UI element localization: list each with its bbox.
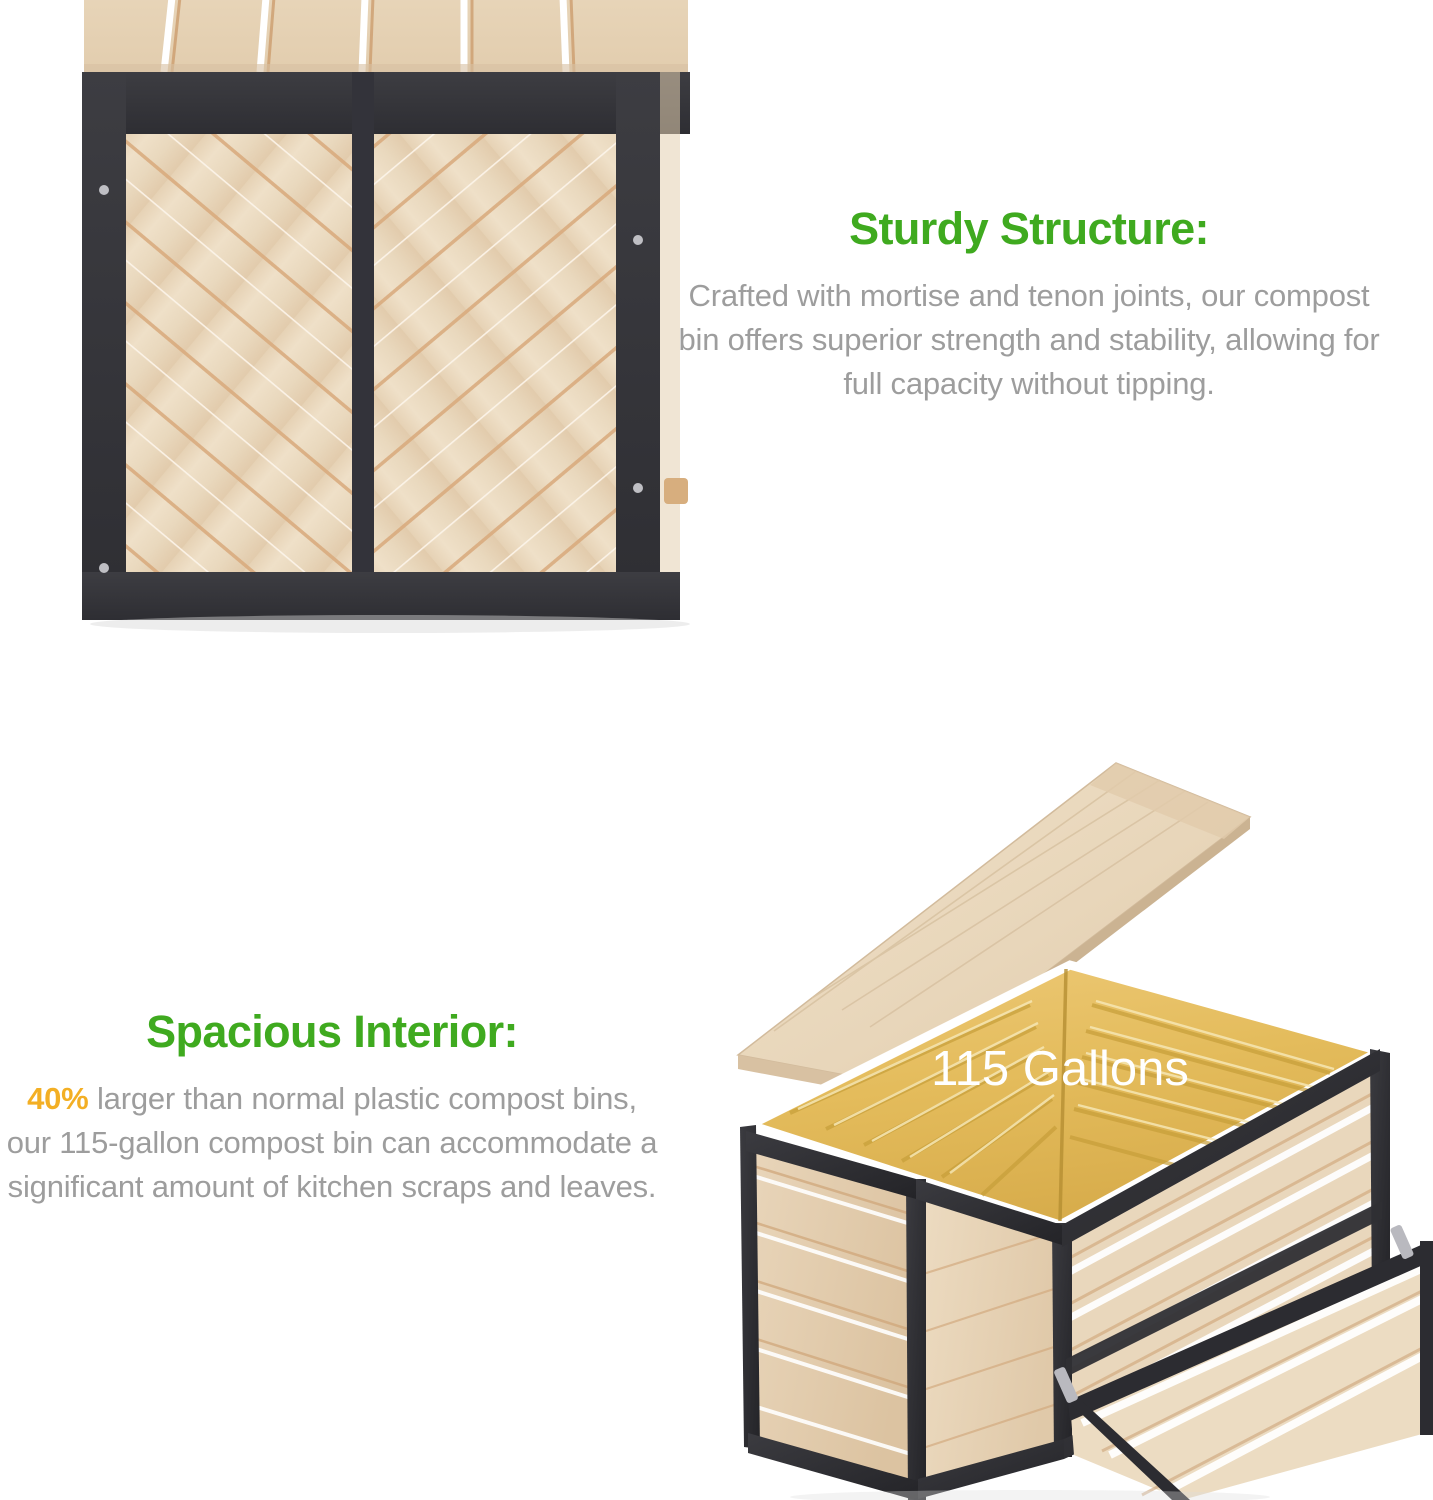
closed-compost-bin-photo [60,0,700,712]
sturdy-structure-heading: Sturdy Structure: [676,205,1382,252]
spacious-interior-text-block: Spacious Interior: 40% larger than norma… [2,1008,662,1209]
closed-bin-illustration [60,0,700,712]
top-frame-rail [82,72,690,134]
sturdy-structure-text-block: Sturdy Structure: Crafted with mortise a… [676,205,1382,406]
spacious-interior-body: 40% larger than normal plastic compost b… [2,1077,662,1209]
lid-slats [84,0,688,74]
bin-body [82,72,688,620]
capacity-overlay-label: 115 Gallons [931,1042,1189,1096]
open-bin-illustration: 115 Gallons [730,755,1433,1500]
capacity-increase-percent: 40% [27,1081,88,1116]
frame-post-center [352,72,374,580]
sturdy-structure-body: Crafted with mortise and tenon joints, o… [676,274,1382,406]
bottom-frame-rail [82,572,680,620]
feature-graphic-page: Sturdy Structure: Crafted with mortise a… [0,0,1433,1500]
frame-post-right [616,72,660,612]
frame-post-left [82,72,126,612]
open-compost-bin-photo: 115 Gallons [730,755,1433,1500]
spacious-interior-body-text: larger than normal plastic compost bins,… [7,1081,658,1204]
wood-peg [664,478,688,504]
spacious-interior-heading: Spacious Interior: [2,1008,662,1055]
